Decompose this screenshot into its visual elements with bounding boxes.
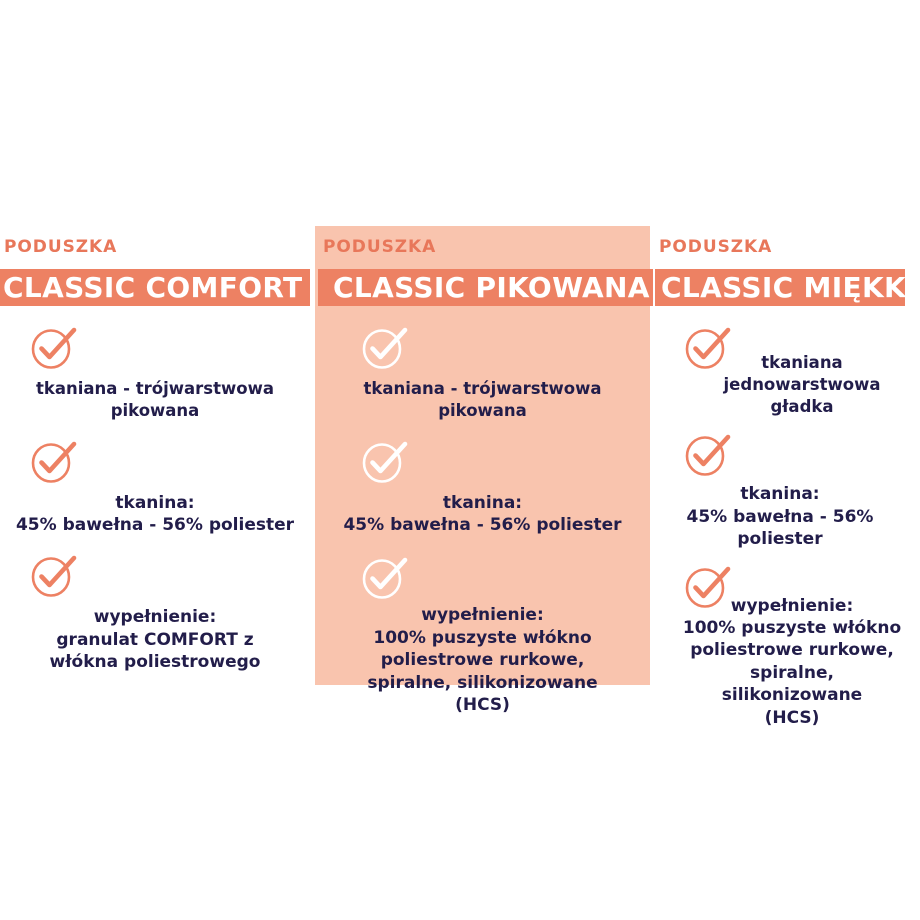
column-eyebrow: PODUSZKA — [315, 226, 650, 269]
feature-text: wypełnienie: 100% puszyste włókno polies… — [655, 595, 905, 730]
feature-item: tkaniana - trójwarstwowa pikowana — [0, 324, 310, 422]
column-title-bar: CLASSIC PIKOWANA — [318, 269, 653, 306]
feature-text: tkaniana - trójwarstwowa pikowana — [315, 378, 650, 422]
check-circle-icon — [360, 438, 408, 484]
feature-item: tkanina: 45% bawełna - 56% poliester — [655, 431, 905, 550]
column-title: CLASSIC MIĘKKA — [655, 274, 920, 302]
product-column-classic-comfort: PODUSZKA CLASSIC COMFORT tkaniana - trój… — [0, 226, 310, 674]
feature-item: tkanina: 45% bawełna - 56% poliester — [0, 438, 310, 537]
feature-list: tkaniana jednowarstwowa gładka tkanina: … — [655, 324, 905, 729]
feature-text: tkanina: 45% bawełna - 56% poliester — [0, 492, 310, 537]
check-circle-icon — [29, 552, 77, 598]
product-column-classic-miekka: PODUSZKA CLASSIC MIĘKKA tkaniana jednowa… — [655, 226, 905, 729]
column-eyebrow: PODUSZKA — [655, 226, 905, 269]
check-circle-icon — [683, 431, 731, 477]
check-circle-icon — [360, 554, 408, 600]
feature-item: tkaniana - trójwarstwowa pikowana — [315, 324, 650, 422]
feature-item: tkaniana jednowarstwowa gładka — [655, 324, 905, 417]
feature-item: wypełnienie: 100% puszyste włókno polies… — [655, 563, 905, 730]
column-title-bar: CLASSIC MIĘKKA — [655, 269, 905, 306]
feature-text: wypełnienie: 100% puszyste włókno polies… — [315, 604, 650, 716]
feature-list: tkaniana - trójwarstwowa pikowana tkanin… — [315, 324, 650, 717]
column-title-bar: CLASSIC COMFORT — [0, 269, 310, 306]
feature-item: wypełnienie: 100% puszyste włókno polies… — [315, 554, 650, 716]
feature-text: tkanina: 45% bawełna - 56% poliester — [315, 492, 650, 537]
product-column-classic-pikowana: PODUSZKA CLASSIC PIKOWANA tkaniana - tró… — [315, 226, 650, 717]
check-circle-icon — [360, 324, 408, 370]
comparison-infographic: PODUSZKA CLASSIC COMFORT tkaniana - trój… — [0, 0, 920, 920]
feature-text: wypełnienie: granulat COMFORT z włókna p… — [0, 606, 310, 673]
column-title: CLASSIC PIKOWANA — [318, 274, 650, 302]
feature-text: tkaniana - trójwarstwowa pikowana — [0, 378, 310, 422]
feature-list: tkaniana - trójwarstwowa pikowana tkanin… — [0, 324, 310, 674]
check-circle-icon — [29, 438, 77, 484]
check-circle-icon — [29, 324, 77, 370]
feature-item: tkanina: 45% bawełna - 56% poliester — [315, 438, 650, 537]
column-eyebrow: PODUSZKA — [0, 226, 310, 269]
column-title: CLASSIC COMFORT — [0, 274, 302, 302]
feature-text: tkanina: 45% bawełna - 56% poliester — [655, 483, 905, 550]
feature-item: wypełnienie: granulat COMFORT z włókna p… — [0, 552, 310, 673]
